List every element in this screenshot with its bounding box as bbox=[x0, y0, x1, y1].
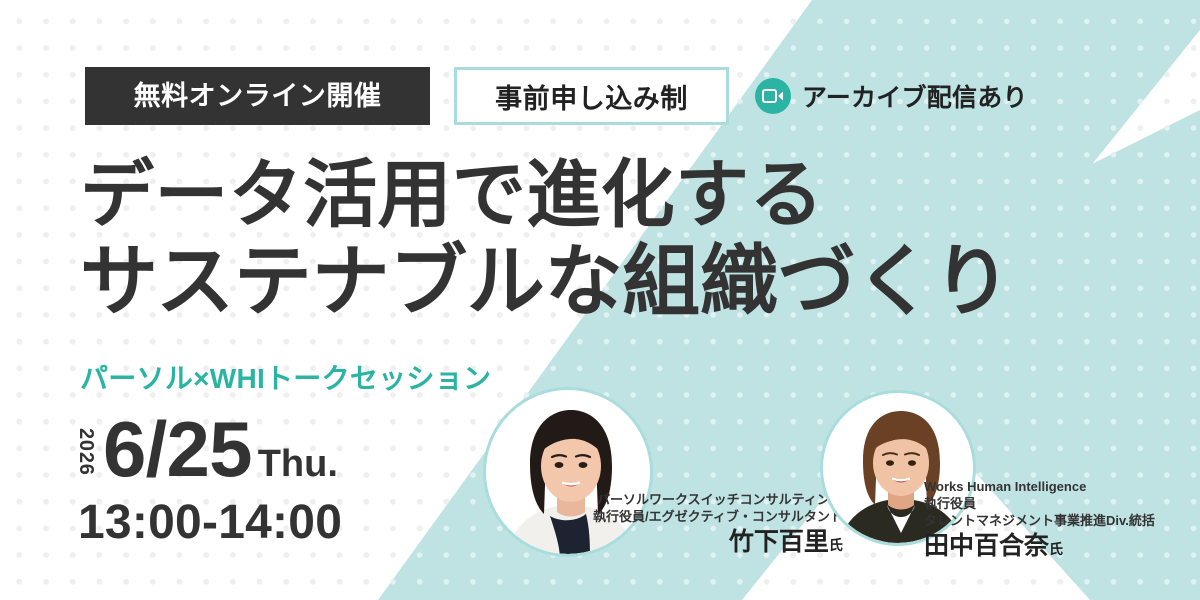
event-date-block: 2026 6/25 Thu. bbox=[74, 410, 338, 503]
speaker-2-org-line-1: Works Human Intelligence bbox=[924, 478, 1155, 495]
speaker-1-org-line-1: パーソルワークスイッチコンサルティング bbox=[593, 491, 843, 508]
event-time: 13:00-14:00 bbox=[78, 497, 342, 549]
speaker-2-meta: Works Human Intelligence 執行役員 タレントマネジメント… bbox=[924, 478, 1155, 564]
badge-archive: アーカイブ配信あり bbox=[755, 78, 1028, 114]
badge-free-online: 無料オンライン開催 bbox=[85, 67, 430, 125]
event-day-of-week: Thu. bbox=[258, 425, 338, 503]
speaker-2-org-line-3: タレントマネジメント事業推進Div.統括 bbox=[924, 512, 1155, 529]
speaker-1-name-suffix: 氏 bbox=[829, 537, 843, 553]
speaker-1-name-text: 竹下百里 bbox=[729, 528, 829, 556]
speaker-1-meta: パーソルワークスイッチコンサルティング 執行役員/エグゼクティブ・コンサルタント… bbox=[593, 491, 843, 560]
event-date: 6/25 bbox=[103, 410, 252, 488]
speaker-2-name-text: 田中百合奈 bbox=[924, 532, 1049, 560]
speaker-2-org-line-2: 執行役員 bbox=[924, 495, 1155, 512]
headline-line-2: サステナブルな組織づくり bbox=[80, 238, 1011, 324]
speaker-1-name: 竹下百里氏 bbox=[593, 527, 843, 560]
subtitle: パーソル×WHIトークセッション bbox=[80, 357, 491, 397]
webinar-banner: 無料オンライン開催 事前申し込み制 アーカイブ配信あり データ活用で進化する サ… bbox=[0, 0, 1200, 600]
video-camera-icon bbox=[755, 78, 791, 114]
headline-line-1: データ活用で進化する bbox=[80, 152, 1011, 238]
event-year: 2026 bbox=[74, 428, 97, 476]
speaker-1-org-line-2: 執行役員/エグゼクティブ・コンサルタント bbox=[593, 508, 843, 525]
badge-archive-label: アーカイブ配信あり bbox=[802, 78, 1028, 114]
speaker-2-name: 田中百合奈氏 bbox=[924, 531, 1155, 564]
speaker-2-name-suffix: 氏 bbox=[1049, 541, 1063, 557]
badge-row: 無料オンライン開催 事前申し込み制 アーカイブ配信あり bbox=[85, 67, 1028, 125]
headline: データ活用で進化する サステナブルな組織づくり bbox=[80, 152, 1011, 324]
event-date-row: 6/25 Thu. bbox=[103, 410, 338, 503]
badge-preregistration: 事前申し込み制 bbox=[454, 67, 729, 125]
